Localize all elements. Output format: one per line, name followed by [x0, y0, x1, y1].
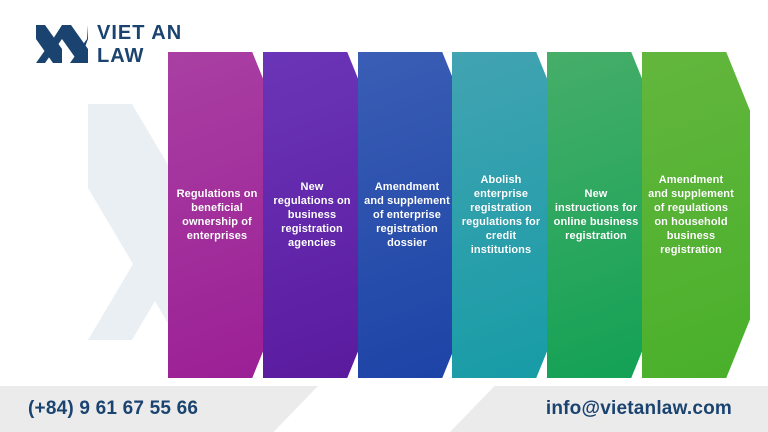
- arrow-label-3: Amendment and supplement of enterprise r…: [358, 180, 456, 250]
- slide-canvas: VIET AN LAW Regulations on beneficial ow…: [0, 0, 768, 432]
- arrow-item-2[interactable]: New regulations on business registration…: [263, 52, 371, 378]
- arrow-label-4: Abolish enterprise registration regulati…: [452, 173, 550, 257]
- brand-name-line1: VIET AN: [97, 23, 182, 43]
- footer-email[interactable]: info@vietanlaw.com: [546, 386, 732, 432]
- vietanlaw-double-x-logo-icon: [36, 22, 88, 66]
- arrow-item-3[interactable]: Amendment and supplement of enterprise r…: [358, 52, 466, 378]
- arrow-item-6[interactable]: Amendment and supplement of regulations …: [642, 52, 750, 378]
- arrow-item-4[interactable]: Abolish enterprise registration regulati…: [452, 52, 560, 378]
- arrow-label-5: New instructions for online business reg…: [547, 187, 645, 243]
- arrow-label-2: New regulations on business registration…: [263, 180, 361, 250]
- footer-phone[interactable]: (+84) 9 61 67 55 66: [28, 386, 198, 432]
- arrow-label-6: Amendment and supplement of regulations …: [642, 173, 740, 257]
- arrow-item-5[interactable]: New instructions for online business reg…: [547, 52, 655, 378]
- arrow-label-1: Regulations on beneficial ownership of e…: [168, 187, 266, 243]
- brand-logo[interactable]: VIET AN LAW: [36, 22, 182, 66]
- arrow-item-1[interactable]: Regulations on beneficial ownership of e…: [168, 52, 276, 378]
